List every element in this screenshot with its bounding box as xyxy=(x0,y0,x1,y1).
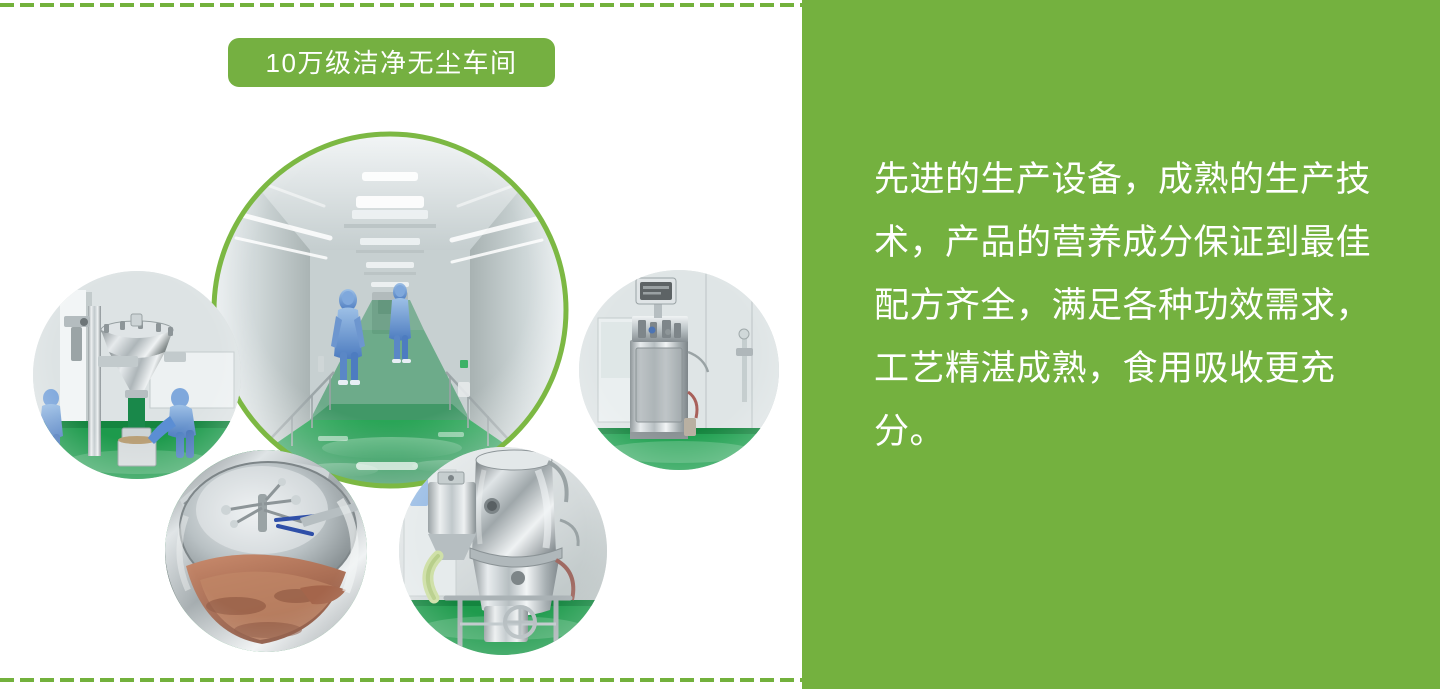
packaging-machine-photo xyxy=(579,270,779,470)
panel-body-text: 先进的生产设备，成熟的生产技术，产品的营养成分保证到最佳配方齐全，满足各种功效需… xyxy=(874,148,1394,463)
cleanroom-corridor-photo xyxy=(214,134,566,486)
collage-svg xyxy=(0,0,802,689)
photo-collage xyxy=(0,0,802,689)
green-copy-panel: 先进的生产设备，成熟的生产技术，产品的营养成分保证到最佳配方齐全，满足各种功效需… xyxy=(802,0,1440,689)
section-badge-label: 10万级洁净无尘车间 xyxy=(266,50,518,76)
section-badge: 10万级洁净无尘车间 xyxy=(228,38,555,87)
promo-banner: 先进的生产设备，成熟的生产技术，产品的营养成分保证到最佳配方齐全，满足各种功效需… xyxy=(0,0,1440,689)
cone-blender-photo xyxy=(33,271,241,479)
fluid-bed-dryer-photo xyxy=(399,447,607,655)
